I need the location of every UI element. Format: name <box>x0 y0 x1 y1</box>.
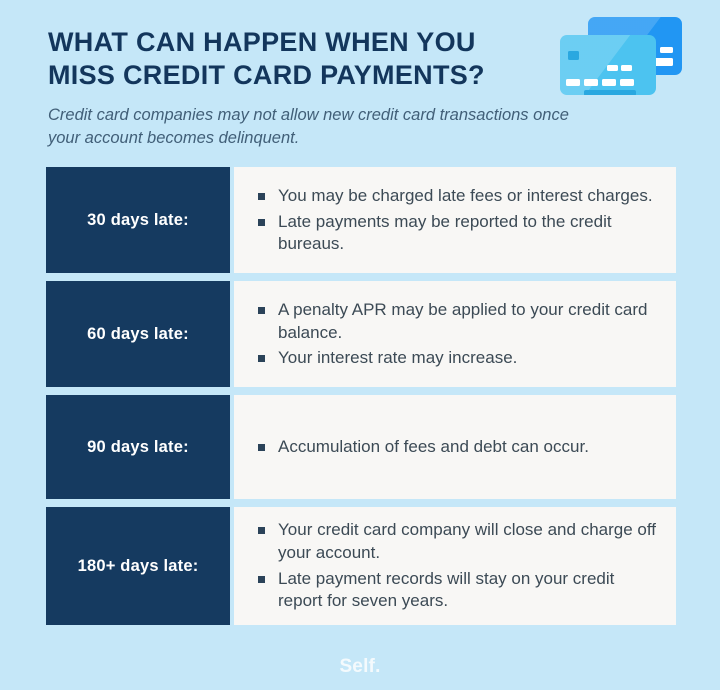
bullet-list: You may be charged late fees or interest… <box>256 185 658 256</box>
bullet-square-icon <box>258 219 265 226</box>
row-label-30-days: 30 days late: <box>46 167 230 273</box>
card-number-group-2 <box>584 79 598 86</box>
page-title: WHAT CAN HAPPEN WHEN YOU MISS CREDIT CAR… <box>48 26 548 93</box>
table-row: 30 days late: You may be charged late fe… <box>46 167 676 273</box>
self-logo: Self. <box>339 656 380 678</box>
bullet-list: Your credit card company will close and … <box>256 519 658 612</box>
row-label-text: 180+ days late: <box>78 557 199 576</box>
credit-cards-icon <box>560 17 682 103</box>
table-row: 60 days late: A penalty APR may be appli… <box>46 281 676 387</box>
bullet-square-icon <box>258 527 265 534</box>
table-row: 180+ days late: Your credit card company… <box>46 507 676 624</box>
list-item: Your interest rate may increase. <box>256 347 658 370</box>
list-item: Your credit card company will close and … <box>256 519 658 564</box>
bullet-list: A penalty APR may be applied to your cre… <box>256 299 658 370</box>
bullet-square-icon <box>258 444 265 451</box>
table-row: 90 days late: Accumulation of fees and d… <box>46 395 676 499</box>
row-label-text: 60 days late: <box>87 325 189 344</box>
list-item-text: Your credit card company will close and … <box>278 520 656 562</box>
list-item-text: Late payments may be reported to the cre… <box>278 212 612 254</box>
list-item-text: Late payment records will stay on your c… <box>278 569 614 611</box>
bullet-square-icon <box>258 193 265 200</box>
bullet-square-icon <box>258 576 265 583</box>
card-chip-icon <box>568 51 579 60</box>
list-item: A penalty APR may be applied to your cre… <box>256 299 658 344</box>
list-item: Late payment records will stay on your c… <box>256 568 658 613</box>
row-label-text: 90 days late: <box>87 438 189 457</box>
bullet-square-icon <box>258 355 265 362</box>
list-item-text: You may be charged late fees or interest… <box>278 186 653 205</box>
list-item: You may be charged late fees or interest… <box>256 185 658 208</box>
bullet-list: Accumulation of fees and debt can occur. <box>256 436 658 459</box>
list-item: Late payments may be reported to the cre… <box>256 211 658 256</box>
row-label-text: 30 days late: <box>87 211 189 230</box>
row-body-90-days: Accumulation of fees and debt can occur. <box>234 395 676 499</box>
row-body-30-days: You may be charged late fees or interest… <box>234 167 676 273</box>
list-item-text: Your interest rate may increase. <box>278 348 517 367</box>
card-number-group-3 <box>602 79 616 86</box>
row-label-60-days: 60 days late: <box>46 281 230 387</box>
card-front-mid-bar-1 <box>607 65 618 71</box>
row-label-90-days: 90 days late: <box>46 395 230 499</box>
list-item: Accumulation of fees and debt can occur. <box>256 436 658 459</box>
row-body-180-days: Your credit card company will close and … <box>234 507 676 624</box>
page-subtitle: Credit card companies may not allow new … <box>48 104 588 150</box>
credit-card-front-icon <box>560 35 656 95</box>
card-front-bottom-bar <box>584 90 636 95</box>
bullet-square-icon <box>258 307 265 314</box>
row-body-60-days: A penalty APR may be applied to your cre… <box>234 281 676 387</box>
card-front-mid-bar-2 <box>621 65 632 71</box>
card-back-bar-2 <box>660 47 673 53</box>
list-item-text: A penalty APR may be applied to your cre… <box>278 300 647 342</box>
list-item-text: Accumulation of fees and debt can occur. <box>278 437 589 456</box>
timeline-rows: 30 days late: You may be charged late fe… <box>0 167 720 624</box>
infographic-root: WHAT CAN HAPPEN WHEN YOU MISS CREDIT CAR… <box>0 0 720 690</box>
header: WHAT CAN HAPPEN WHEN YOU MISS CREDIT CAR… <box>0 0 720 149</box>
card-number-group-4 <box>620 79 634 86</box>
footer: Self. <box>0 656 720 678</box>
row-label-180-days: 180+ days late: <box>46 507 230 624</box>
card-number-group-1 <box>566 79 580 86</box>
